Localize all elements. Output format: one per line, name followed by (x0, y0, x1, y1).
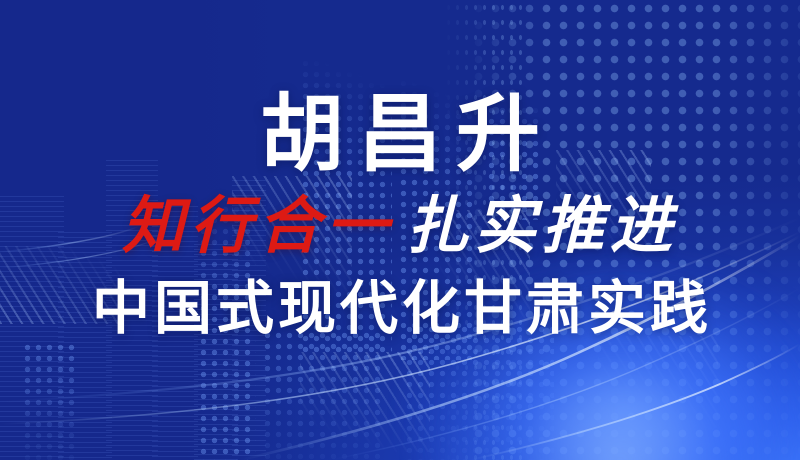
headline-name: 胡昌升 (246, 92, 554, 176)
banner-copy: 胡昌升 知行合一 扎实推进 中国式现代化甘肃实践 (0, 0, 800, 460)
subline: 知行合一 扎实推进 (122, 196, 678, 258)
subline-red-text: 知行合一 (122, 196, 394, 258)
subline-white-text: 扎实推进 (406, 196, 678, 258)
slogan-text: 中国式现代化甘肃实践 (88, 280, 712, 338)
banner-canvas: 胡昌升 知行合一 扎实推进 中国式现代化甘肃实践 (0, 0, 800, 460)
